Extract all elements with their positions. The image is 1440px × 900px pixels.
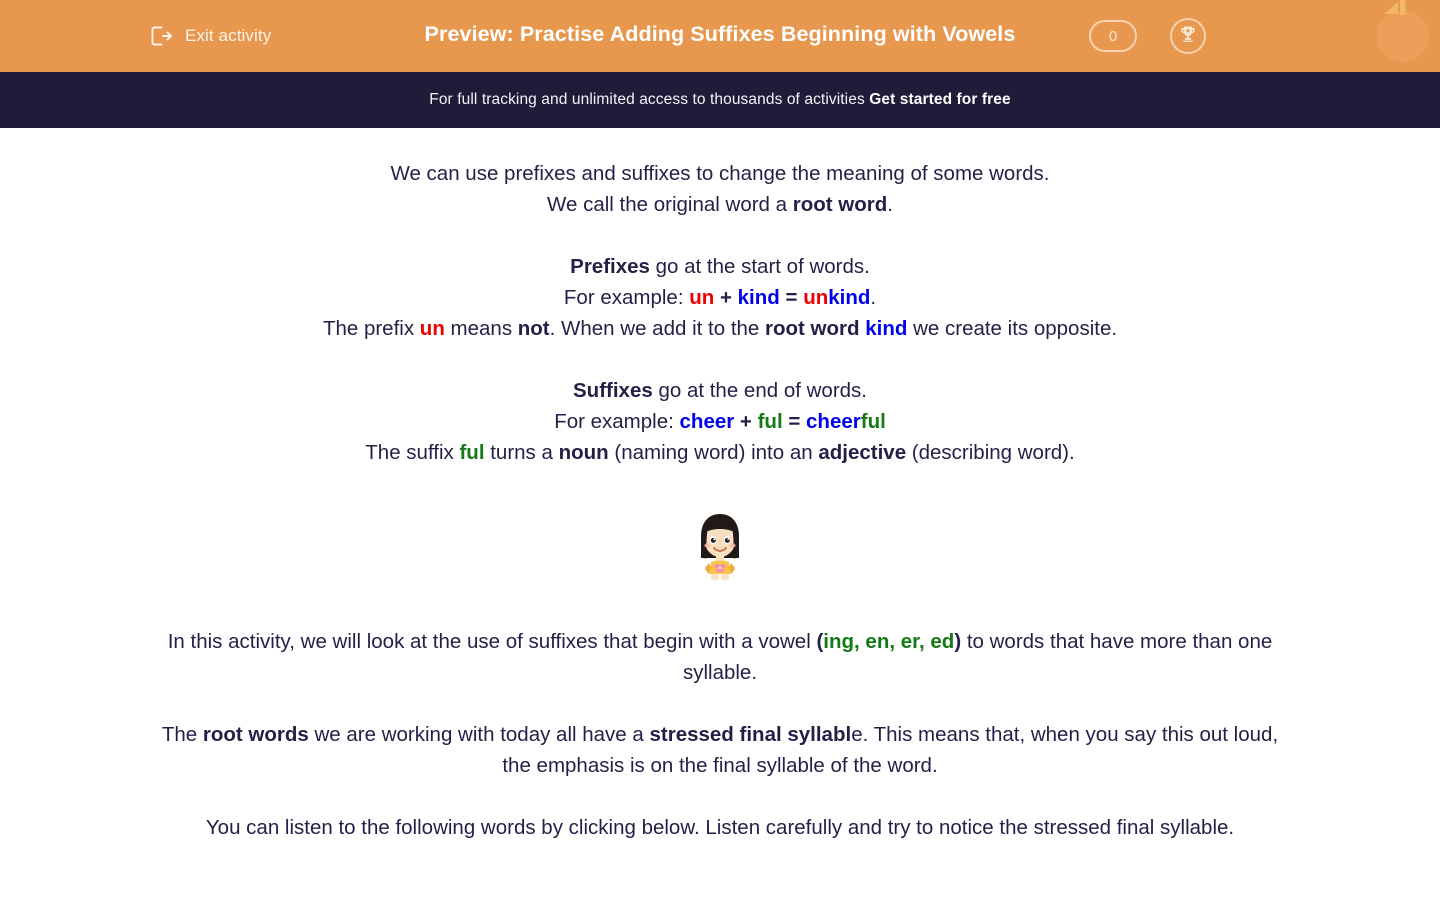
prefix-un-1: un <box>689 286 714 309</box>
prefix-meaning-c: . When we add it to the <box>550 317 765 340</box>
prefixes-paragraph: Prefixes go at the start of words. For e… <box>0 251 1440 344</box>
prefixes-line-1: Prefixes go at the start of words. <box>0 251 1440 282</box>
intro-line-2-text-b: . <box>887 193 893 216</box>
suffix-ful-3: ful <box>459 441 484 464</box>
promo-banner-text: For full tracking and unlimited access t… <box>429 91 1011 109</box>
prefix-un-3: un <box>420 317 445 340</box>
prefixes-example-period: . <box>870 286 876 309</box>
suffix-meaning-d: (describing word). <box>906 441 1075 464</box>
adjective-term: adjective <box>818 441 906 464</box>
prefix-un-2: un <box>803 286 828 309</box>
score-badge[interactable]: 0 <box>1089 20 1137 52</box>
activity-note-a: In this activity, we will look at the us… <box>168 630 817 653</box>
app-header: Exit activity Preview: Practise Adding S… <box>0 0 1440 72</box>
suffix-equals-sign: = <box>783 410 806 433</box>
prefix-plus-sign: + <box>714 286 737 309</box>
suffix-meaning-b: turns a <box>485 441 559 464</box>
prefix-meaning-e: we create its opposite. <box>907 317 1117 340</box>
suffixes-term: Suffixes <box>573 379 653 402</box>
activity-content: We can use prefixes and suffixes to chan… <box>0 128 1440 843</box>
orange-fruit-logo-icon <box>1362 0 1436 70</box>
girl-avatar-illustration-icon <box>689 512 751 584</box>
trophy-icon <box>1178 24 1198 49</box>
prefix-equals-sign: = <box>780 286 803 309</box>
stress-note-a: The <box>162 723 203 746</box>
prefixes-meaning-line: The prefix un means not. When we add it … <box>0 313 1440 344</box>
promo-banner-cta[interactable]: Get started for free <box>869 91 1011 108</box>
score-value: 0 <box>1109 28 1117 45</box>
stress-note-b: we are working with today all have a <box>309 723 650 746</box>
trophy-button[interactable] <box>1170 18 1206 54</box>
suffixes-paragraph: Suffixes go at the end of words. For exa… <box>0 375 1440 468</box>
suffix-ful-1: ful <box>758 410 783 433</box>
root-word-term: root word <box>793 193 888 216</box>
suffixes-meaning-line: The suffix ful turns a noun (naming word… <box>0 437 1440 468</box>
prefix-meaning-a: The prefix <box>323 317 420 340</box>
root-kind-1: kind <box>738 286 780 309</box>
promo-banner-message: For full tracking and unlimited access t… <box>429 91 869 108</box>
suffix-ful-2: ful <box>861 410 886 433</box>
promo-banner[interactable]: For full tracking and unlimited access t… <box>0 72 1440 128</box>
prefixes-line-1-rest: go at the start of words. <box>650 255 870 278</box>
suffixes-example-label: For example: <box>554 410 679 433</box>
root-words-term: root words <box>203 723 309 746</box>
suffix-plus-sign: + <box>734 410 757 433</box>
section-spacer <box>0 220 1440 251</box>
prefixes-term: Prefixes <box>570 255 650 278</box>
prefix-not-term: not <box>518 317 550 340</box>
avatar-illustration-container <box>0 512 1440 584</box>
root-kind-3: kind <box>865 317 907 340</box>
stressed-final-syllable-term: stressed final syllabl <box>650 723 852 746</box>
prefixes-example-label: For example: <box>564 286 689 309</box>
noun-term: noun <box>559 441 609 464</box>
root-cheer-2: cheer <box>806 410 861 433</box>
activity-note-paragraph: In this activity, we will look at the us… <box>160 626 1280 688</box>
suffixes-line-1-rest: go at the end of words. <box>653 379 867 402</box>
intro-line-1: We can use prefixes and suffixes to chan… <box>0 158 1440 189</box>
root-kind-2: kind <box>828 286 870 309</box>
prefix-meaning-b: means <box>445 317 518 340</box>
root-word-term-2: root word <box>765 317 860 340</box>
suffix-meaning-c: (naming word) into an <box>609 441 819 464</box>
suffixes-example-line: For example: cheer + ful = cheerful <box>0 406 1440 437</box>
page-title: Preview: Practise Adding Suffixes Beginn… <box>0 22 1440 47</box>
stress-note-paragraph: The root words we are working with today… <box>160 719 1280 781</box>
suffix-meaning-a: The suffix <box>365 441 459 464</box>
section-spacer-2 <box>0 344 1440 375</box>
intro-line-2: We call the original word a root word. <box>0 189 1440 220</box>
intro-line-2-text-a: We call the original word a <box>547 193 793 216</box>
prefixes-example-line: For example: un + kind = unkind. <box>0 282 1440 313</box>
vowel-suffix-list: ing, en, er, ed <box>823 630 954 653</box>
listen-note-paragraph: You can listen to the following words by… <box>160 812 1280 843</box>
intro-paragraph: We can use prefixes and suffixes to chan… <box>0 158 1440 220</box>
root-cheer-1: cheer <box>680 410 735 433</box>
suffixes-line-1: Suffixes go at the end of words. <box>0 375 1440 406</box>
